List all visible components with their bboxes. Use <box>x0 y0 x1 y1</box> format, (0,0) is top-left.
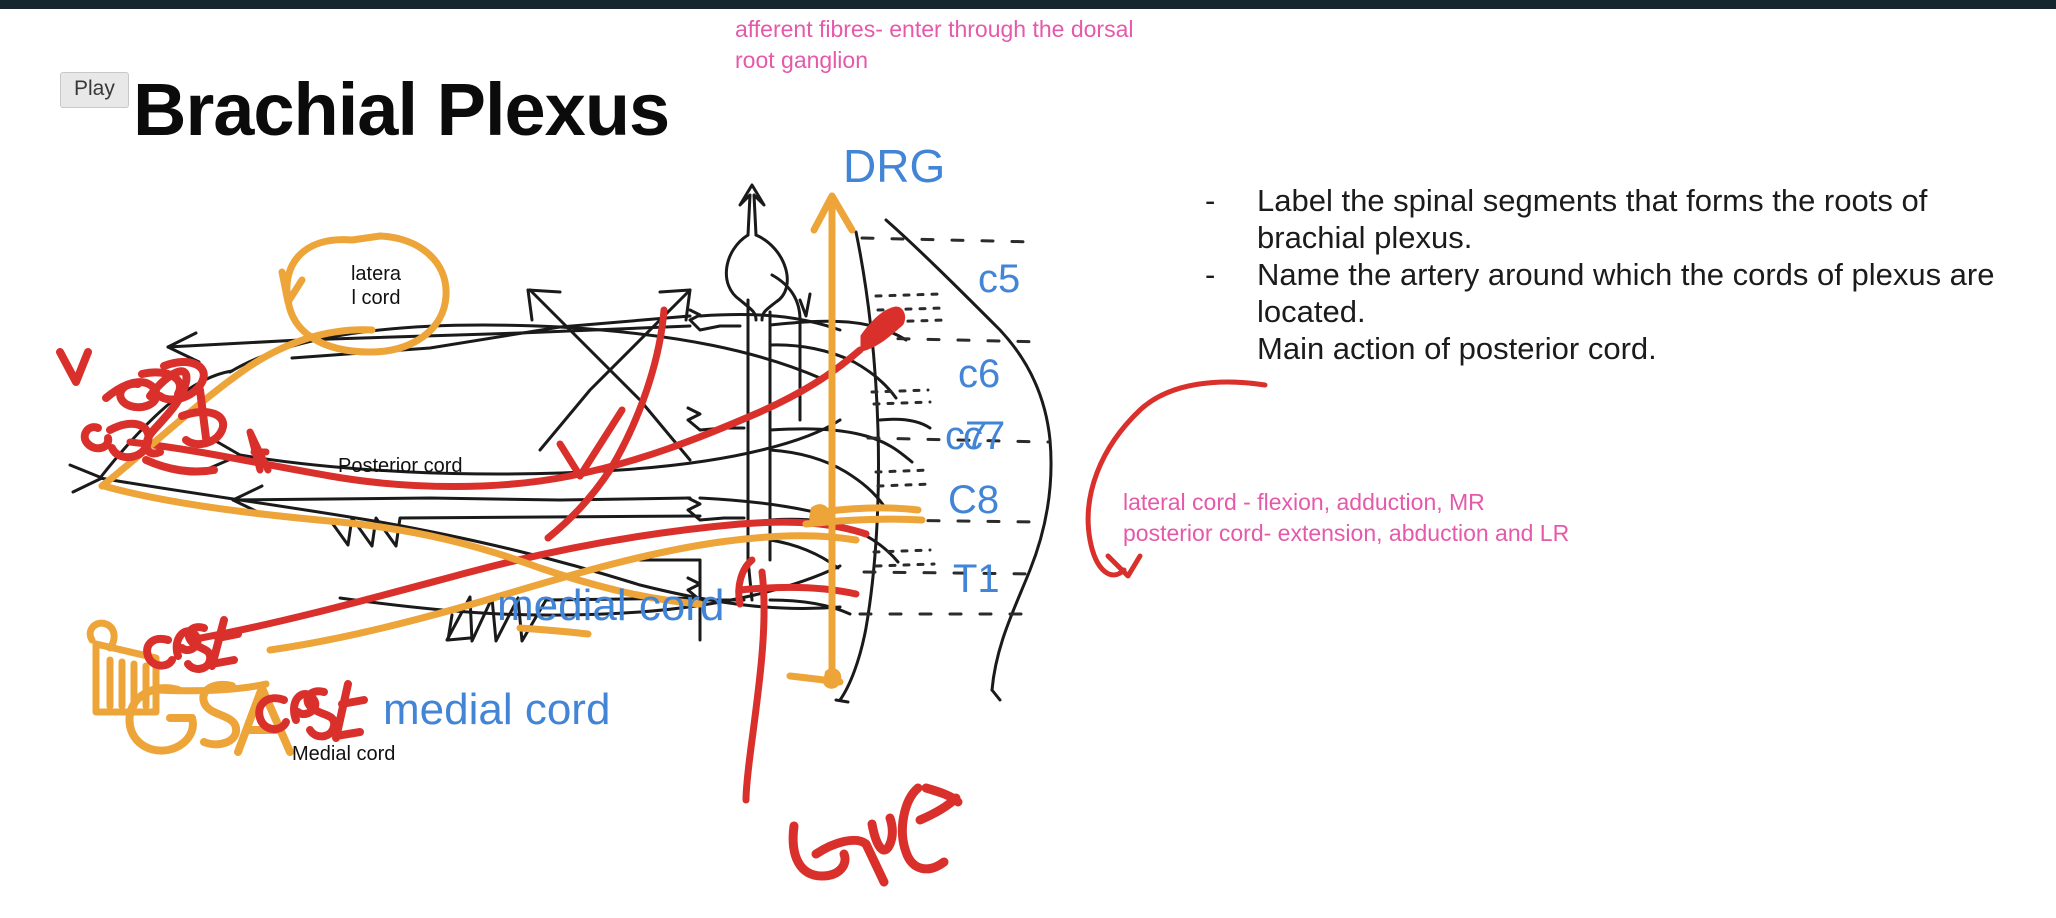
gve-handwriting <box>793 788 958 882</box>
play-button[interactable]: Play <box>60 72 129 108</box>
cord-actions-annotation: lateral cord - flexion, adduction, MR po… <box>1123 487 1723 549</box>
gse-lower-handwriting <box>259 684 364 738</box>
afferent-fibres-annotation: afferent fibres- enter through the dorsa… <box>735 14 1255 76</box>
label-medial-cord-lower: medial cord <box>383 685 610 735</box>
label-lateral-cord: latera l cord <box>330 262 422 311</box>
label-drg: DRG <box>843 139 945 193</box>
question-list: - Label the spinal segments that forms t… <box>1205 183 1995 369</box>
question-text: Label the spinal segments that forms the… <box>1257 183 1995 256</box>
foramina-stipple <box>872 294 946 566</box>
question-text: Name the artery around which the cords o… <box>1257 257 1995 330</box>
question-item-2: - Name the artery around which the cords… <box>1205 257 1995 330</box>
label-c8: C8 <box>948 478 999 523</box>
question-item-3: Main action of posterior cord. <box>1205 331 1995 368</box>
question-bullet: - <box>1205 183 1257 256</box>
label-posterior-cord: Posterior cord <box>338 454 463 478</box>
label-c6: c6 <box>958 352 1000 397</box>
label-c5: c5 <box>978 257 1020 302</box>
page-title: Brachial Plexus <box>133 67 669 152</box>
question-item-1: - Label the spinal segments that forms t… <box>1205 183 1995 256</box>
body-contour-line-art <box>886 220 1051 700</box>
gse-upper-handwriting <box>147 620 238 669</box>
label-medial-cord-printed: Medial cord <box>292 742 395 766</box>
label-t1: T1 <box>953 557 1000 602</box>
question-bullet: - <box>1205 257 1257 330</box>
question-text: Main action of posterior cord. <box>1257 331 1995 368</box>
label-c7-b: c7 <box>963 414 1005 459</box>
red-script-annotation <box>60 352 223 472</box>
gsa-handwriting <box>129 685 290 752</box>
window-title-bar <box>0 0 2056 9</box>
orange-box-sketch <box>90 623 266 712</box>
label-medial-cord-upper: medial cord <box>497 581 724 631</box>
